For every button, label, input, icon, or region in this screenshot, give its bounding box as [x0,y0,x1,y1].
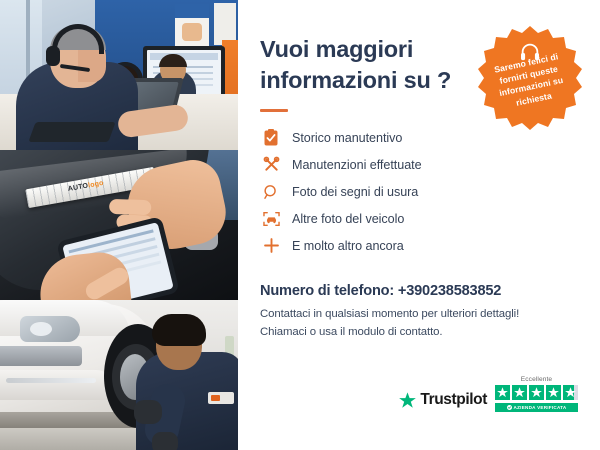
tools-cross-icon [260,155,282,175]
contact-subtext-line-1: Contattaci in qualsiasi momento per ulte… [260,308,519,320]
trustpilot-star-icon [399,392,416,409]
page-title: Vuoi maggiori informazioni su ? [260,34,475,96]
star-rating [495,385,578,400]
star-3-icon [529,385,544,400]
content-panel: Vuoi maggiori informazioni su ? Saremo f… [238,0,600,450]
star-5-icon [563,385,578,400]
mechanic-photo [0,300,238,450]
car-headlight-decor [20,316,80,342]
feature-list: Storico manutentivo Manutenzioni effettu… [260,124,578,259]
list-item-label: E molto altro ancora [292,239,404,253]
headline-line-1: Vuoi maggiori [260,36,413,62]
list-item-label: Foto dei segni di usura [292,185,418,199]
list-item[interactable]: Manutenzioni effettuate [260,151,578,178]
mechanic-hair-decor [152,314,206,346]
advertisement-banner: AUTOlogo [0,0,600,450]
car-scan-icon [260,209,282,229]
star-2-icon [512,385,527,400]
phone-line: Numero di telefono: +390238583852 [260,283,578,299]
headset-earcup-decor [46,46,60,66]
desk-tablet-decor [28,122,115,142]
verified-check-icon [507,405,512,410]
headline-line-2: informazioni su ? [260,67,451,93]
list-item[interactable]: E molto altro ancora [260,232,578,259]
contact-subtext: Contattaci in qualsiasi momento per ulte… [260,305,578,341]
damage-check-photo: AUTOlogo [0,150,238,300]
contact-subtext-line-2: Chiamaci o usa il modulo di contatto. [260,326,442,338]
list-item-label: Manutenzioni effettuate [292,158,422,172]
list-item[interactable]: Foto dei segni di usura [260,178,578,205]
car-grille-decor [0,346,82,366]
verified-badge: AZIENDA VERIFICATA [495,403,578,412]
photo-column: AUTOlogo [0,0,238,450]
magnifier-icon [260,182,282,202]
star-4-icon [546,385,561,400]
plus-icon [260,236,282,256]
callout-badge: Saremo felici di fornirti queste informa… [474,24,586,136]
star-1-icon [495,385,510,400]
wall-poster-decor [175,4,209,52]
clipboard-check-icon [260,128,282,148]
rating-label: Eccellente [521,376,552,383]
mechanic-glove-secondary-decor [152,432,178,450]
list-item[interactable]: Altre foto del veicolo [260,205,578,232]
title-divider [260,109,288,112]
list-item-label: Storico manutentivo [292,131,402,145]
wall-poster-secondary-decor [214,3,236,45]
car-chrome-trim-decor [6,378,96,383]
car-bumper-decor [0,370,116,400]
verified-label: AZIENDA VERIFICATA [514,405,567,410]
trustpilot-rating: Eccellente [495,376,578,412]
list-item-label: Altre foto del veicolo [292,212,404,226]
mechanic-glove-decor [134,400,162,424]
phone-label: Numero di telefono: [260,283,398,299]
call-center-photo [0,0,238,150]
trustpilot-name: Trustpilot [420,391,487,409]
trustpilot-logo: Trustpilot [399,391,487,412]
uniform-logo-decor [208,392,234,404]
trustpilot-widget[interactable]: Trustpilot Eccellente [399,376,578,412]
contact-block: Numero di telefono: +390238583852 Contat… [260,283,578,341]
phone-number[interactable]: +390238583852 [398,283,501,299]
